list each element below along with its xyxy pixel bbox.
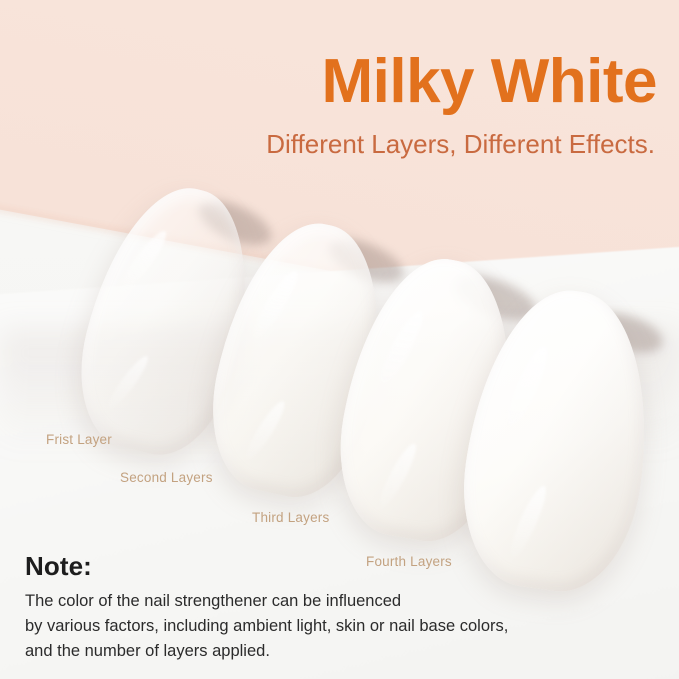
page-subtitle: Different Layers, Different Effects.: [0, 130, 655, 160]
layer-label-second: Second Layers: [120, 470, 213, 485]
product-poster: Milky White Different Layers, Different …: [0, 0, 679, 679]
note-title: Note:: [25, 552, 655, 581]
note-line-2: by various factors, including ambient li…: [25, 614, 635, 639]
note-line-1: The color of the nail strengthener can b…: [25, 589, 635, 614]
note-body: The color of the nail strengthener can b…: [25, 589, 635, 664]
note-block: Note: The color of the nail strengthener…: [25, 552, 655, 664]
note-line-3: and the number of layers applied.: [25, 639, 635, 664]
layer-label-first: Frist Layer: [46, 432, 112, 447]
layer-label-third: Third Layers: [252, 510, 329, 525]
page-title: Milky White: [0, 50, 657, 114]
